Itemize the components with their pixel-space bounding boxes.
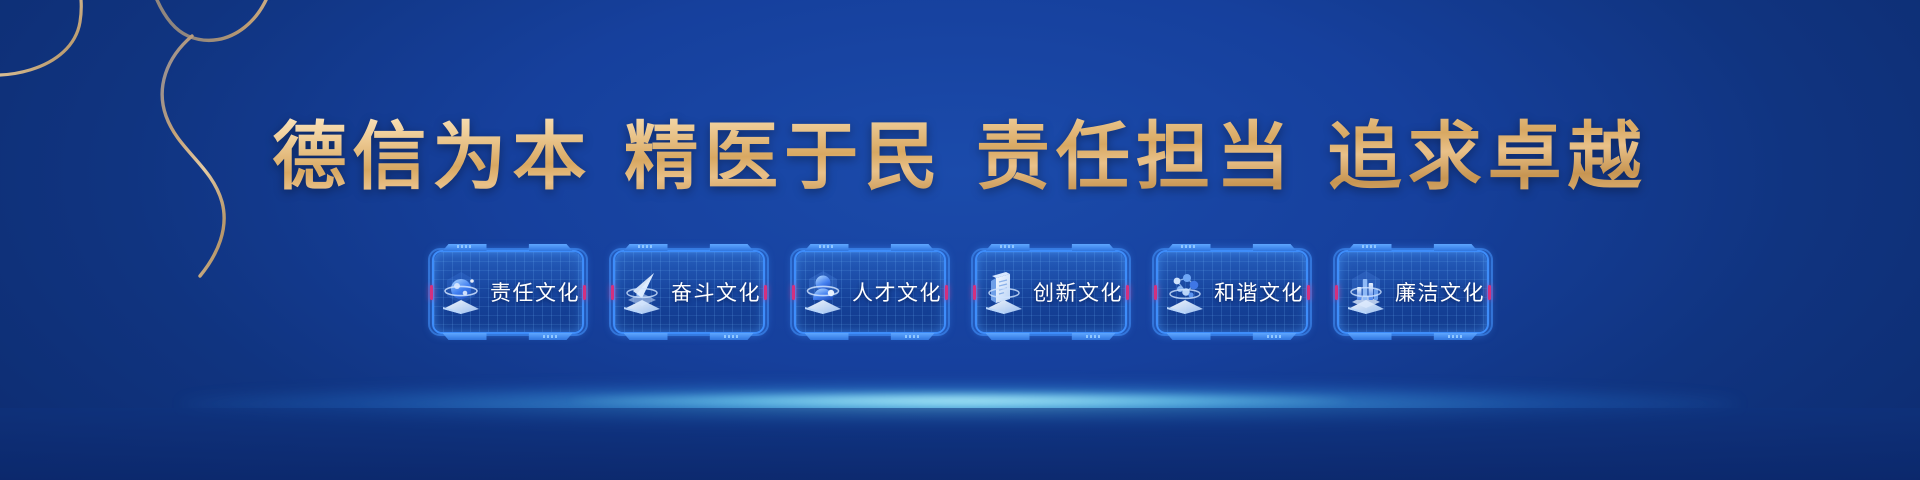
planet-sphere-icon	[439, 269, 483, 315]
card-label: 廉洁文化	[1395, 277, 1485, 307]
culture-card[interactable]: 廉洁文化	[1332, 248, 1494, 336]
cyan-floor-glow	[0, 330, 1920, 480]
floor-beam-wide	[180, 384, 1740, 424]
card-label: 创新文化	[1033, 277, 1123, 307]
floor-beam-core	[570, 394, 1350, 407]
card-label: 奋斗文化	[671, 277, 761, 307]
card-label: 和谐文化	[1214, 277, 1304, 307]
culture-card-row: 责任文化	[0, 248, 1920, 336]
rocket-arrow-icon	[620, 269, 664, 315]
culture-card[interactable]: 和谐文化	[1151, 248, 1313, 336]
culture-banner: 德信为本 精医于民 责任担当 追求卓越	[0, 0, 1920, 480]
card-body: 廉洁文化	[1332, 248, 1494, 336]
card-body: 和谐文化	[1151, 248, 1313, 336]
card-body: 责任文化	[427, 248, 589, 336]
bar-chart-buildings-icon	[1344, 269, 1388, 315]
culture-card[interactable]: 奋斗文化	[608, 248, 770, 336]
card-body: 创新文化	[970, 248, 1132, 336]
culture-card[interactable]: 人才文化	[789, 248, 951, 336]
card-body: 人才文化	[789, 248, 951, 336]
person-head-icon	[801, 269, 845, 315]
page-title: 德信为本 精医于民 责任担当 追求卓越	[272, 114, 1647, 201]
card-body: 奋斗文化	[608, 248, 770, 336]
floor-fade	[0, 408, 1920, 480]
document-server-icon	[982, 269, 1026, 315]
card-label: 人才文化	[852, 277, 942, 307]
molecule-network-icon	[1163, 269, 1207, 315]
card-label: 责任文化	[490, 277, 580, 307]
banner-title-wrap: 德信为本 精医于民 责任担当 追求卓越	[0, 64, 1920, 250]
culture-card[interactable]: 责任文化	[427, 248, 589, 336]
culture-card[interactable]: 创新文化	[970, 248, 1132, 336]
